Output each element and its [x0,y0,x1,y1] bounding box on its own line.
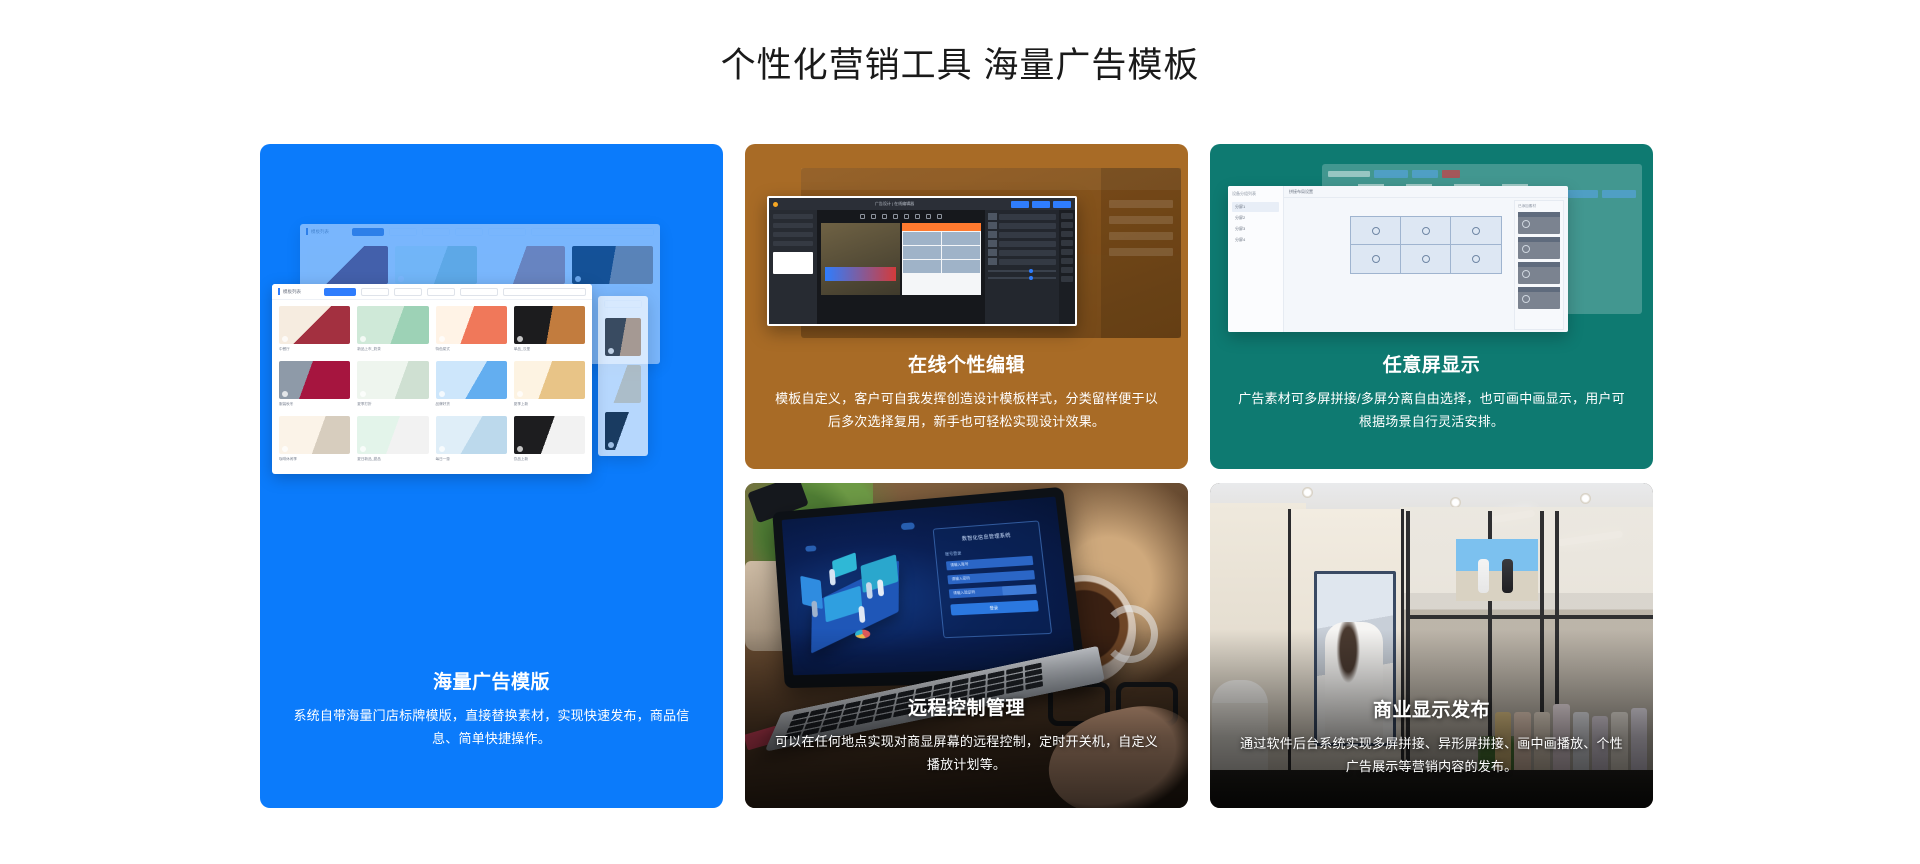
screen-cell-1[interactable] [1351,217,1401,245]
template-thumbnail [514,306,585,344]
template-caption: 每日一惠 [436,456,507,462]
card-text-block: 任意屏显示 广告素材可多屏拼接/多屏分离自由选择，也可画中画显示，用户可根据场景… [1210,352,1653,433]
marketing-feature-page: 个性化营销工具 海量广告模板 模板列表 [0,0,1920,864]
clock-tool-icon[interactable] [926,214,931,219]
feature-card-commercial-display[interactable]: 商业显示发布 通过软件后台系统实现多屏拼接、异形屏拼接、画中画播放、个性广告展示… [1210,483,1653,808]
group-button-back[interactable] [389,228,417,236]
resolution-select-back[interactable] [488,228,526,236]
secondary-action-button[interactable] [1602,190,1636,198]
template-card[interactable] [572,246,653,284]
template-caption: 服装秋冬 [279,401,350,407]
template-grid-back [300,240,660,290]
template-thumbnail [514,416,585,454]
editor-actions[interactable] [1011,201,1071,208]
template-caption: 夏季上新 [514,401,585,407]
layer-row[interactable] [988,222,1056,229]
template-card[interactable]: 夏季打折 [357,361,428,407]
editor-titlebar: 广告设计 | 在线编辑器 [769,198,1075,210]
material-item[interactable] [1518,262,1560,284]
canvas-preview [773,252,813,274]
template-card[interactable] [605,318,641,356]
multiscreen-sidebar[interactable]: 设备分组列表 分屏1 分屏2 分屏3 分屏4 [1228,186,1284,332]
select-tool-icon[interactable] [860,214,865,219]
image-icon[interactable] [1061,231,1073,237]
card-title: 在线个性编辑 [771,352,1162,380]
app-logo-icon [773,202,778,207]
import-button-back[interactable] [422,228,450,236]
template-thumbnail [436,416,507,454]
opacity-slider[interactable] [988,270,1056,272]
template-card[interactable] [395,246,476,284]
card-description: 系统自带海量门店标牌模版，直接替换素材，实现快速发布，商品信息、简单快捷操作。 [286,704,697,750]
card-text-block: 在线个性编辑 模板自定义，客户可自我发挥创造设计模板样式，分类留样便于以后多次选… [745,352,1188,433]
shape-tool-icon[interactable] [915,214,920,219]
properties-icon[interactable] [1061,213,1073,219]
editor-window-title: 广告设计 | 在线编辑器 [875,201,914,207]
template-card[interactable]: 新品上市_奶茶 [357,306,428,352]
material-icon[interactable] [1061,240,1073,246]
image-tool-icon[interactable] [882,214,887,219]
template-list-window-front: 模板列表 中餐厅 [272,284,592,474]
template-caption: 夏日新品_甜品 [357,456,428,462]
material-list-pane[interactable]: 已添加素材 [1514,200,1564,330]
feature-card-online-editor[interactable]: 广告设计 | 在线编辑器 [745,144,1188,469]
template-thumbnail [436,361,507,399]
template-card[interactable]: 单品_汉堡 [514,306,585,352]
canvas-media-right [902,223,981,295]
card-text-block: 商业显示发布 通过软件后台系统实现多屏拼接、异形屏拼接、画中画播放、个性广告展示… [1210,697,1653,778]
template-grid: 中餐厅 新品上市_奶茶 特色菜式 [272,300,592,468]
layer-row[interactable] [988,258,1056,265]
text-tool-icon[interactable] [893,214,898,219]
screen-cell-2[interactable] [1401,217,1451,245]
template-list-window-side [598,296,648,456]
search-input[interactable] [503,288,586,296]
template-card[interactable] [307,246,388,284]
template-card[interactable]: 服装秋冬 [279,361,350,407]
card-title: 商业显示发布 [1236,697,1627,725]
template-caption: 品牌好货 [436,401,507,407]
text-icon[interactable] [1061,222,1073,228]
card-title: 任意屏显示 [1236,352,1627,380]
animation-icon[interactable] [1061,258,1073,264]
sidebar-item-split-3[interactable]: 分屏3 [1232,224,1279,234]
template-list-screenshot: 模板列表 [260,224,723,474]
multiscreen-tabbar[interactable]: 拼接布局设置 [1284,186,1568,198]
weather-tool-icon[interactable] [937,214,942,219]
template-caption: 特色菜式 [436,346,507,352]
template-card[interactable]: 每日一惠 [436,416,507,462]
editor-toolbar[interactable] [821,214,981,219]
template-card[interactable] [605,365,641,403]
template-card[interactable]: 特色菜式 [436,306,507,352]
template-thumbnail [357,416,428,454]
help-icon[interactable] [1061,276,1073,282]
template-toolbar: 模板列表 [272,284,592,300]
page-title: 个性化营销工具 海量广告模板 [0,42,1920,90]
new-template-button[interactable] [324,288,356,296]
editor-right-rail[interactable] [1059,210,1075,324]
group-button[interactable] [361,288,389,296]
screen-cell-4[interactable] [1351,245,1401,273]
template-thumbnail [279,361,350,399]
settings-icon[interactable] [1061,267,1073,273]
template-card[interactable] [605,412,641,450]
card-text-block: 远程控制管理 可以在任何地点实现对商显屏幕的远程控制，定时开关机，自定义播放计划… [745,695,1188,776]
template-thumbnail [357,361,428,399]
layer-row[interactable] [988,231,1056,238]
canvas-media-left [821,223,900,295]
sidebar-item-split-2[interactable]: 分屏2 [1232,213,1279,223]
template-caption: 新品上市_奶茶 [357,346,428,352]
template-caption: 中餐厅 [279,346,350,352]
template-card[interactable]: 夏日新品_甜品 [357,416,428,462]
secondary-action-button[interactable] [1564,190,1598,198]
feature-card-grid: 模板列表 [260,144,1660,808]
card-text-block: 海量广告模版 系统自带海量门店标牌模版，直接替换素材，实现快速发布，商品信息、简… [260,669,723,750]
template-caption: 单品_汉堡 [514,346,585,352]
card-description: 模板自定义，客户可自我发挥创造设计模板样式，分类留样便于以后多次选择复用，新手也… [771,387,1162,433]
material-list-title: 已添加素材 [1518,204,1560,209]
card-title: 远程控制管理 [771,695,1162,723]
material-item[interactable] [1518,287,1560,309]
save-layout-button[interactable] [1412,170,1438,178]
template-card[interactable]: 夏季上新 [514,361,585,407]
video-tool-icon[interactable] [904,214,909,219]
template-thumbnail [279,306,350,344]
template-thumbnail [514,361,585,399]
feature-card-any-screen[interactable]: 设备分组列表 分屏1 分屏2 分屏3 分屏4 拼接布局设置 [1210,144,1653,469]
resolution-select[interactable] [460,288,498,296]
material-item[interactable] [1518,212,1560,234]
template-toolbar-back: 模板列表 [300,224,660,240]
screen-cell-5[interactable] [1401,245,1451,273]
template-caption: 咖啡休闲季 [279,456,350,462]
template-caption: 夏季打折 [357,401,428,407]
online-editor-window: 广告设计 | 在线编辑器 [767,196,1077,326]
sidebar-title: 设备分组列表 [1232,191,1279,197]
tab-layout-settings[interactable]: 拼接布局设置 [1289,189,1313,195]
search-input-back[interactable] [531,228,654,236]
star-tool-icon[interactable] [871,214,876,219]
editor-left-panel[interactable] [769,210,817,324]
layer-row[interactable] [988,249,1056,256]
device-panel-label [1328,171,1370,177]
new-template-button-back[interactable] [352,228,384,236]
layer-row[interactable] [988,240,1056,247]
template-panel-label-back: 模板列表 [306,228,329,235]
import-button[interactable] [394,288,422,296]
card-title: 海量广告模版 [286,669,697,697]
delete-layout-button[interactable] [1442,170,1460,178]
feature-card-remote-control[interactable]: 数智化信息管理系统 账号登录 请输入账号 请输入密码 请输入验证码 登录 [745,483,1188,808]
template-caption: 饮品上新 [514,456,585,462]
layer-row[interactable] [988,213,1056,220]
editor-canvas[interactable] [817,210,985,324]
sidebar-item-split-4[interactable]: 分屏4 [1232,235,1279,245]
material-item[interactable] [1518,237,1560,259]
add-layout-button[interactable] [1374,170,1408,178]
card-description: 可以在任何地点实现对商显屏幕的远程控制，定时开关机，自定义播放计划等。 [771,730,1162,776]
multiscreen-layout-window: 设备分组列表 分屏1 分屏2 分屏3 分屏4 拼接布局设置 [1228,186,1568,332]
screen-cell-6[interactable] [1451,245,1501,273]
template-panel-label: 模板列表 [278,288,301,295]
template-card[interactable]: 咖啡休闲季 [279,416,350,462]
card-description: 通过软件后台系统实现多屏拼接、异形屏拼接、画中画播放、个性广告展示等营销内容的发… [1236,732,1627,778]
feature-card-massive-templates[interactable]: 模板列表 [260,144,723,808]
screen-split-grid[interactable] [1350,216,1502,274]
scale-slider[interactable] [988,277,1056,279]
template-thumbnail [436,306,507,344]
delete-button-back[interactable] [455,228,483,236]
multiscreen-main: 拼接布局设置 已添加素材 [1284,186,1568,332]
card-description: 广告素材可多屏拼接/多屏分离自由选择，也可画中画显示，用户可根据场景自行灵活安排… [1236,387,1627,433]
template-card[interactable]: 饮品上新 [514,416,585,462]
delete-button[interactable] [427,288,455,296]
template-thumbnail [357,306,428,344]
layers-icon[interactable] [1061,249,1073,255]
editor-layers-panel[interactable] [985,210,1059,324]
sidebar-item-split-1[interactable]: 分屏1 [1232,202,1279,212]
screen-cell-3[interactable] [1451,217,1501,245]
template-card[interactable]: 中餐厅 [279,306,350,352]
template-thumbnail [279,416,350,454]
template-card[interactable] [484,246,565,284]
template-card[interactable]: 品牌好货 [436,361,507,407]
